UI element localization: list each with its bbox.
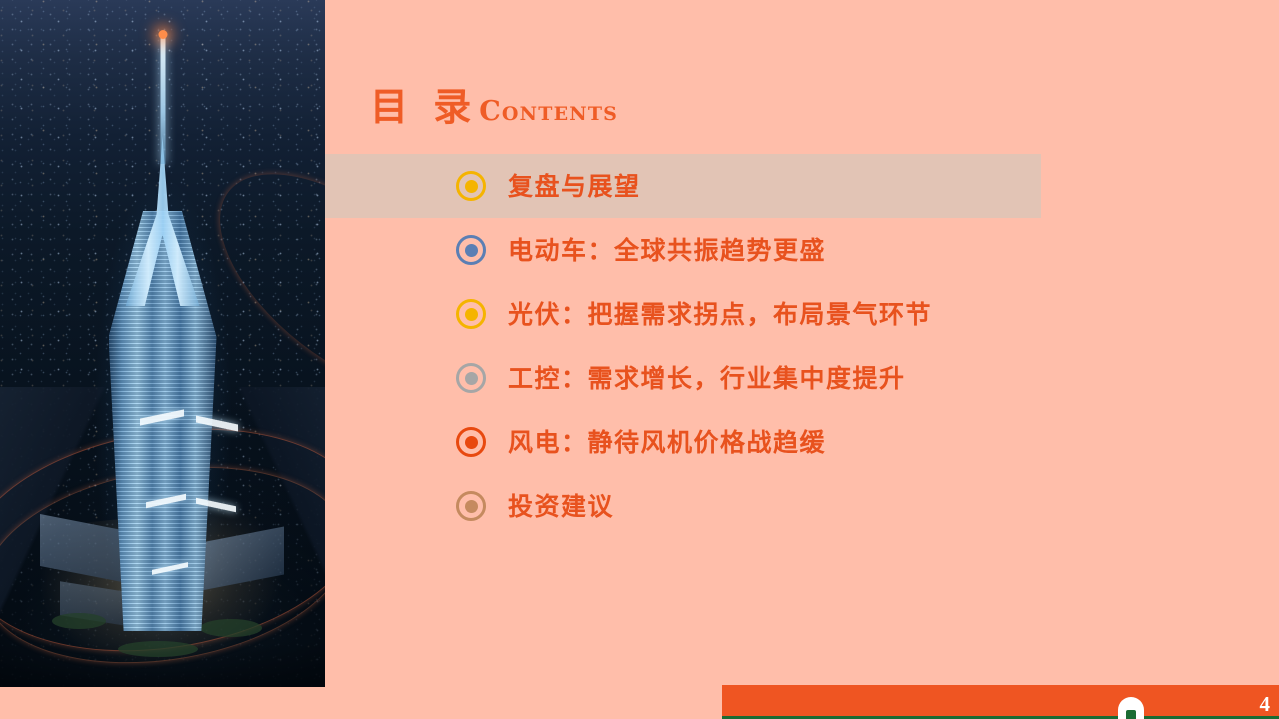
table-of-contents: 复盘与展望 电动车：全球共振趋势更盛 光伏：把握需求拐点，布局景气环节 工控：需… <box>433 154 1149 538</box>
toc-item-4[interactable]: 风电：静待风机价格战趋缓 <box>433 410 1149 474</box>
toc-item-label: 复盘与展望 <box>508 174 641 199</box>
toc-item-label: 光伏：把握需求拐点，布局景气环节 <box>508 302 932 327</box>
bullet-icon <box>456 299 486 329</box>
slide-content: 目 录 Contents 复盘与展望 电动车：全球共振趋势更盛 光伏 <box>325 0 1279 719</box>
presentation-slide: 目 录 Contents 复盘与展望 电动车：全球共振趋势更盛 光伏 <box>0 0 1279 719</box>
toc-item-label: 电动车：全球共振趋势更盛 <box>508 238 826 263</box>
toc-item-3[interactable]: 工控：需求增长，行业集中度提升 <box>433 346 1149 410</box>
bullet-icon <box>456 491 486 521</box>
page-title-en: Contents <box>479 98 618 125</box>
page-number: 4 <box>1260 694 1271 715</box>
greenery-front <box>118 641 198 657</box>
greenery-right <box>200 619 262 637</box>
toc-item-2[interactable]: 光伏：把握需求拐点，布局景气环节 <box>433 282 1149 346</box>
toc-item-label: 工控：需求增长，行业集中度提升 <box>508 366 906 391</box>
arch-logo-icon <box>1118 697 1144 719</box>
toc-item-1[interactable]: 电动车：全球共振趋势更盛 <box>433 218 1149 282</box>
slide-photo <box>0 0 325 687</box>
toc-item-0[interactable]: 复盘与展望 <box>325 154 1041 218</box>
greenery-left <box>52 613 106 629</box>
bullet-icon <box>456 235 486 265</box>
page-title-cn: 目 录 <box>370 88 477 126</box>
bullet-icon <box>456 171 486 201</box>
toc-item-5[interactable]: 投资建议 <box>433 474 1149 538</box>
footer-bar <box>722 685 1279 717</box>
bullet-icon <box>456 427 486 457</box>
page-title: 目 录 Contents <box>370 88 618 126</box>
spire-beacon-icon <box>158 30 167 39</box>
toc-item-label: 投资建议 <box>508 494 614 519</box>
bullet-icon <box>456 363 486 393</box>
toc-item-label: 风电：静待风机价格战趋缓 <box>508 430 826 455</box>
tower-spire <box>160 34 165 164</box>
